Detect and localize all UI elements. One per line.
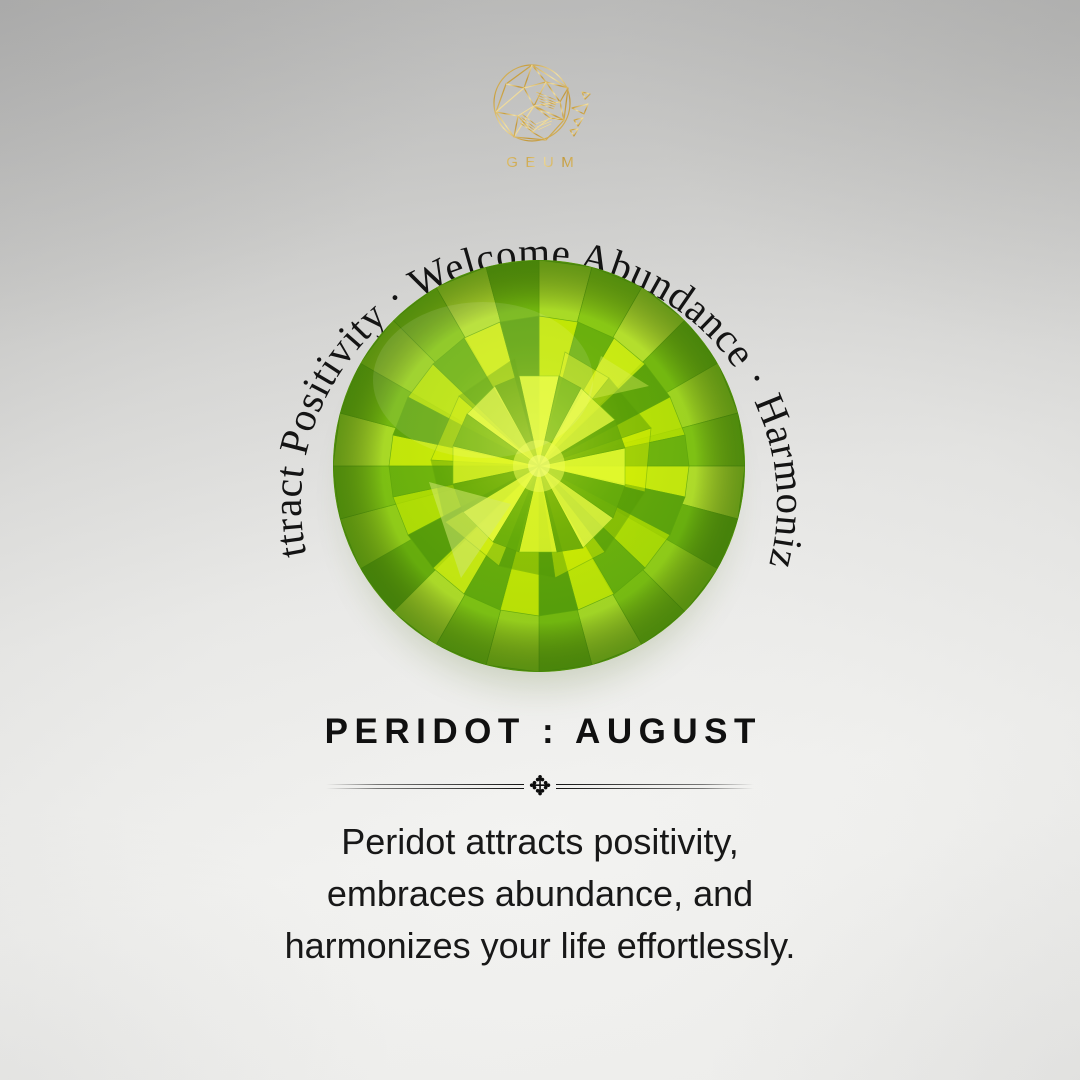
divider-rule-left (326, 783, 524, 791)
divider-rule-right (556, 783, 754, 791)
peridot-gemstone (333, 260, 745, 672)
poster-canvas: GEUM Attract Positivity · Welcome Abunda… (0, 0, 1080, 1080)
gemstone-image (333, 260, 745, 672)
description-line-2: embraces abundance, and (220, 868, 860, 920)
page-title: PERIDOT : AUGUST (0, 712, 1080, 752)
decorative-divider: ✥ (326, 770, 754, 804)
description-line-3: harmonizes your life effortlessly. (220, 920, 860, 972)
brand-wordmark: GEUM (499, 154, 582, 171)
brand-logo: GEUM (0, 58, 1080, 171)
cross-fleuron-ornament: ✥ (529, 773, 552, 800)
faceted-gem-logo-icon (488, 58, 592, 150)
description-text: Peridot attracts positivity, embraces ab… (220, 816, 860, 972)
description-line-1: Peridot attracts positivity, (220, 816, 860, 868)
